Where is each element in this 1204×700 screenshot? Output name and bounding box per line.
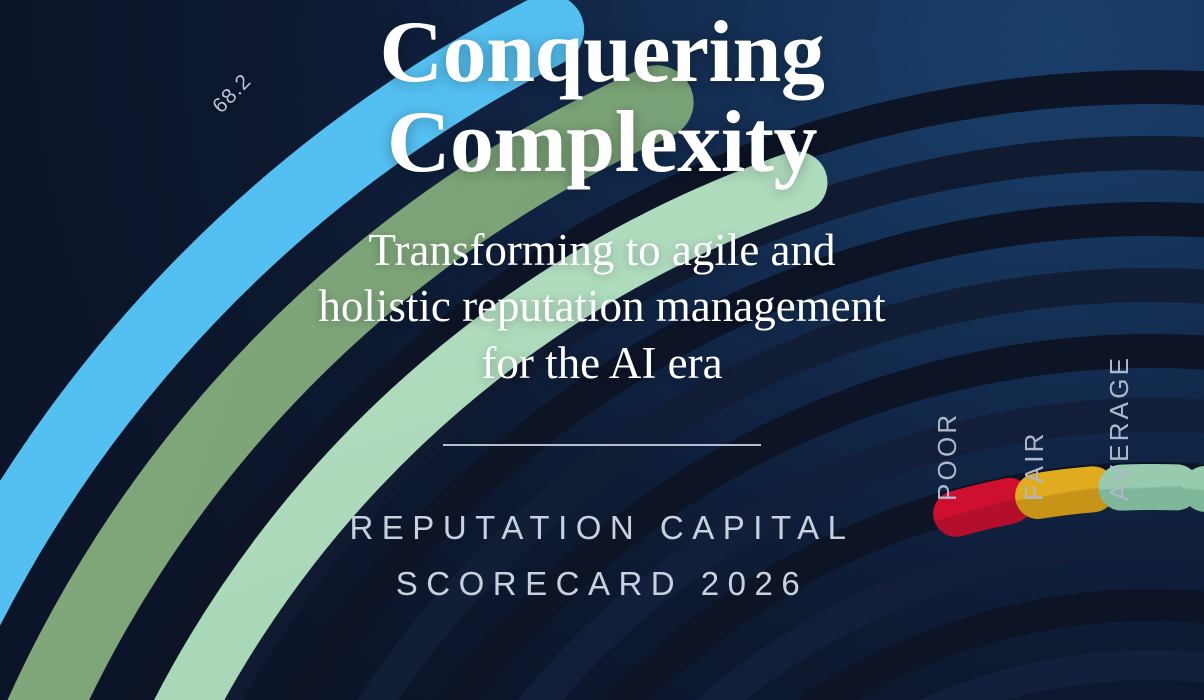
report-cover: 68.2 POOR FAIR AVERAGE Conquering Comple… (0, 0, 1204, 700)
title-line-2: Complexity (380, 98, 825, 188)
kicker-line-1: REPUTATION CAPITAL (349, 500, 854, 557)
cover-content: Conquering Complexity Transforming to ag… (0, 0, 1204, 700)
subtitle-line-1: Transforming to agile and (318, 222, 885, 279)
subtitle-line-3: for the AI era (318, 335, 885, 392)
page-subtitle: Transforming to agile and holistic reput… (318, 222, 885, 392)
kicker-line-2: SCORECARD 2026 (349, 556, 854, 613)
report-series-kicker: REPUTATION CAPITAL SCORECARD 2026 (349, 500, 854, 614)
subtitle-line-2: holistic reputation management (318, 278, 885, 335)
divider (443, 444, 761, 446)
title-line-1: Conquering (380, 8, 825, 98)
page-title: Conquering Complexity (380, 8, 825, 188)
